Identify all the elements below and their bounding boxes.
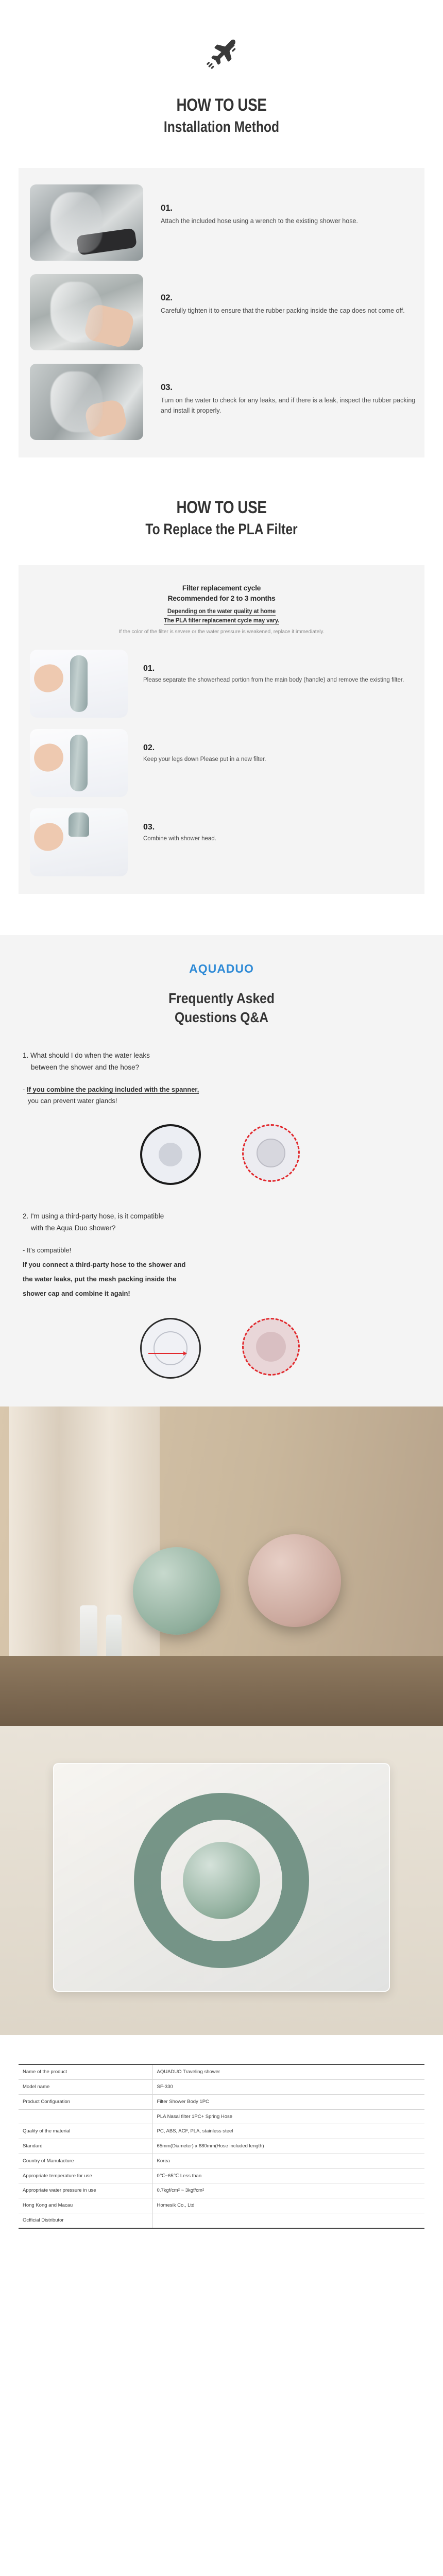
step-number: 02. <box>143 743 266 753</box>
filter-step-photo-3 <box>30 808 128 876</box>
filter-step-text-1: 01. Please separate the showerhead porti… <box>128 650 404 718</box>
install-step-photo-2 <box>30 274 143 350</box>
faq-question-1: 1. What should I do when the water leaks… <box>23 1050 420 1074</box>
cycle-underline-2: The PLA filter replacement cycle may var… <box>164 618 279 625</box>
spec-key: Appropriate temperature for use <box>19 2168 152 2183</box>
faq-title-line2: Questions Q&A <box>27 1008 417 1026</box>
table-row: Name of the product AQUADUO Traveling sh… <box>19 2064 424 2079</box>
install-step: 03. Turn on the water to check for any l… <box>19 364 424 440</box>
package-photo <box>0 1726 443 2035</box>
install-step-text-2: 02. Carefully tighten it to ensure that … <box>143 274 405 350</box>
filter-subheading: To Replace the PLA Filter <box>40 521 403 538</box>
install-steps-panel: 01. Attach the included hose using a wre… <box>19 168 424 457</box>
faq-a2-line3: shower cap and combine it again! <box>23 1288 420 1299</box>
cycle-note: If the color of the filter is severe or … <box>19 628 424 636</box>
faq-title-line1: Frequently Asked <box>27 989 417 1007</box>
cycle-title-1: Filter replacement cycle <box>19 584 424 592</box>
faq-diagram-1 <box>23 1124 420 1185</box>
spec-key: Appropriate water pressure in use <box>19 2183 152 2198</box>
step-description: Carefully tighten it to ensure that the … <box>161 306 405 316</box>
spec-value: Korea <box>152 2154 424 2168</box>
install-heading: HOW TO USE <box>40 95 403 115</box>
table-row: Hong Kong and Macau Homesik Co., Ltd <box>19 2198 424 2213</box>
install-step-text-3: 03. Turn on the water to check for any l… <box>143 364 424 440</box>
faq-list: 1. What should I do when the water leaks… <box>23 1050 420 1379</box>
step-number: 03. <box>143 823 216 832</box>
spec-value: 0℃~65℃ Less than <box>152 2168 424 2183</box>
spec-value: 65mm(Diameter) x 680mm(Hose included len… <box>152 2139 424 2154</box>
step-description: Attach the included hose using a wrench … <box>161 216 358 226</box>
table-row: Appropriate water pressure in use 0.7kgf… <box>19 2183 424 2198</box>
faq-a1-dash: - <box>23 1086 27 1093</box>
faq-q1-line2: between the shower and the hose? <box>23 1062 420 1074</box>
faq-q2-line1: 2. I'm using a third-party hose, is it c… <box>23 1212 164 1220</box>
spec-value: Filter Shower Body 1PC <box>152 2094 424 2109</box>
spec-key: Name of the product <box>19 2064 152 2079</box>
install-step-photo-1 <box>30 184 143 261</box>
shower-cap-illustration <box>140 1124 201 1185</box>
step-description: Please separate the showerhead portion f… <box>143 675 404 686</box>
lifestyle-photo-showerheads <box>0 1406 443 1726</box>
faq-a1-line2: you can prevent water glands! <box>23 1095 420 1107</box>
faq-a2-line1: If you connect a third-party hose to the… <box>23 1259 420 1270</box>
step-number: 02. <box>161 293 405 303</box>
step-number: 01. <box>161 203 358 213</box>
spec-value: AQUADUO Traveling shower <box>152 2064 424 2079</box>
faq-question-2: 2. I'm using a third-party hose, is it c… <box>23 1211 420 1234</box>
filter-step-photo-2 <box>30 729 128 797</box>
spec-value: 0.7kgf/cm² ~ 3kgf/cm² <box>152 2183 424 2198</box>
filter-panel: Filter replacement cycle Recommended for… <box>19 565 424 894</box>
spec-key: Country of Manufacture <box>19 2154 152 2168</box>
spec-key: Product Configuration <box>19 2094 152 2109</box>
table-row: Country of Manufacture Korea <box>19 2154 424 2168</box>
install-step: 02. Carefully tighten it to ensure that … <box>19 274 424 350</box>
faq-answer-2: - It's compatible! If you connect a thir… <box>23 1245 420 1299</box>
installation-section: HOW TO USE Installation Method 01. Attac… <box>0 0 443 457</box>
faq-item-1: 1. What should I do when the water leaks… <box>23 1050 420 1185</box>
filter-step: 01. Please separate the showerhead porti… <box>19 650 424 718</box>
airplane-icon <box>203 65 240 74</box>
install-step-photo-3 <box>30 364 143 440</box>
spec-key: Model name <box>19 2080 152 2095</box>
product-detail-page: HOW TO USE Installation Method 01. Attac… <box>0 0 443 2270</box>
install-subheading: Installation Method <box>40 118 403 136</box>
table-row: Standard 65mm(Diameter) x 680mm(Hose inc… <box>19 2139 424 2154</box>
faq-q2-line2: with the Aqua Duo shower? <box>23 1223 420 1234</box>
spec-value: PLA Nasal filter 1PC+ Spring Hose <box>152 2109 424 2124</box>
spec-key: Standard <box>19 2139 152 2154</box>
install-step: 01. Attach the included hose using a wre… <box>19 184 424 261</box>
filter-step-text-3: 03. Combine with shower head. <box>128 808 216 876</box>
step-description: Keep your legs down Please put in a new … <box>143 755 266 765</box>
filter-section: HOW TO USE To Replace the PLA Filter Fil… <box>0 457 443 894</box>
spec-key <box>19 2109 152 2124</box>
step-description: Combine with shower head. <box>143 834 216 844</box>
install-step-text-1: 01. Attach the included hose using a wre… <box>143 184 358 261</box>
step-description: Turn on the water to check for any leaks… <box>161 395 424 416</box>
mesh-packing-closeup-illustration <box>242 1318 303 1379</box>
faq-section: AQUADUO Frequently Asked Questions Q&A 1… <box>0 935 443 1406</box>
filter-heading: HOW TO USE <box>40 498 403 518</box>
spec-value: SF-330 <box>152 2080 424 2095</box>
spec-key: Ocfficial Distributor <box>19 2213 152 2228</box>
table-row: PLA Nasal filter 1PC+ Spring Hose <box>19 2109 424 2124</box>
cycle-underline-1: Depending on the water quality at home <box>167 608 276 616</box>
cycle-title-2: Recommended for 2 to 3 months <box>19 594 424 602</box>
specification-table: Name of the product AQUADUO Traveling sh… <box>19 2064 424 2228</box>
spec-key: Quality of the material <box>19 2124 152 2139</box>
filter-step-photo-1 <box>30 650 128 718</box>
mesh-packing-illustration <box>140 1318 201 1379</box>
specification-section: Name of the product AQUADUO Traveling sh… <box>0 2035 443 2269</box>
faq-item-2: 2. I'm using a third-party hose, is it c… <box>23 1211 420 1379</box>
faq-a2-lead: - It's compatible! <box>23 1245 420 1256</box>
spec-value: PC, ABS, ACF, PLA, stainless steel <box>152 2124 424 2139</box>
faq-diagram-2 <box>23 1318 420 1379</box>
faq-q1-line1: 1. What should I do when the water leaks <box>23 1052 150 1059</box>
spec-value: Homesik Co., Ltd <box>152 2198 424 2213</box>
faq-a2-line2: the water leaks, put the mesh packing in… <box>23 1274 420 1285</box>
faq-a1-highlight: If you combine the packing included with… <box>27 1086 199 1094</box>
table-row: Quality of the material PC, ABS, ACF, PL… <box>19 2124 424 2139</box>
packing-highlight-illustration <box>242 1124 303 1185</box>
faq-answer-1: - If you combine the packing included wi… <box>23 1084 420 1107</box>
table-row: Model name SF-330 <box>19 2080 424 2095</box>
brand-logo: AQUADUO <box>0 962 443 976</box>
filter-step: 03. Combine with shower head. <box>19 808 424 876</box>
table-row: Appropriate temperature for use 0℃~65℃ L… <box>19 2168 424 2183</box>
table-row: Ocfficial Distributor <box>19 2213 424 2228</box>
step-number: 01. <box>143 664 404 673</box>
spec-value <box>152 2213 424 2228</box>
spec-key: Hong Kong and Macau <box>19 2198 152 2213</box>
filter-cycle-box: Filter replacement cycle Recommended for… <box>19 580 424 650</box>
airplane-icon-wrap <box>0 36 443 75</box>
lifestyle-photo-section <box>0 1406 443 2035</box>
table-row: Product Configuration Filter Shower Body… <box>19 2094 424 2109</box>
filter-step: 02. Keep your legs down Please put in a … <box>19 729 424 797</box>
filter-step-text-2: 02. Keep your legs down Please put in a … <box>128 729 266 797</box>
step-number: 03. <box>161 382 424 393</box>
